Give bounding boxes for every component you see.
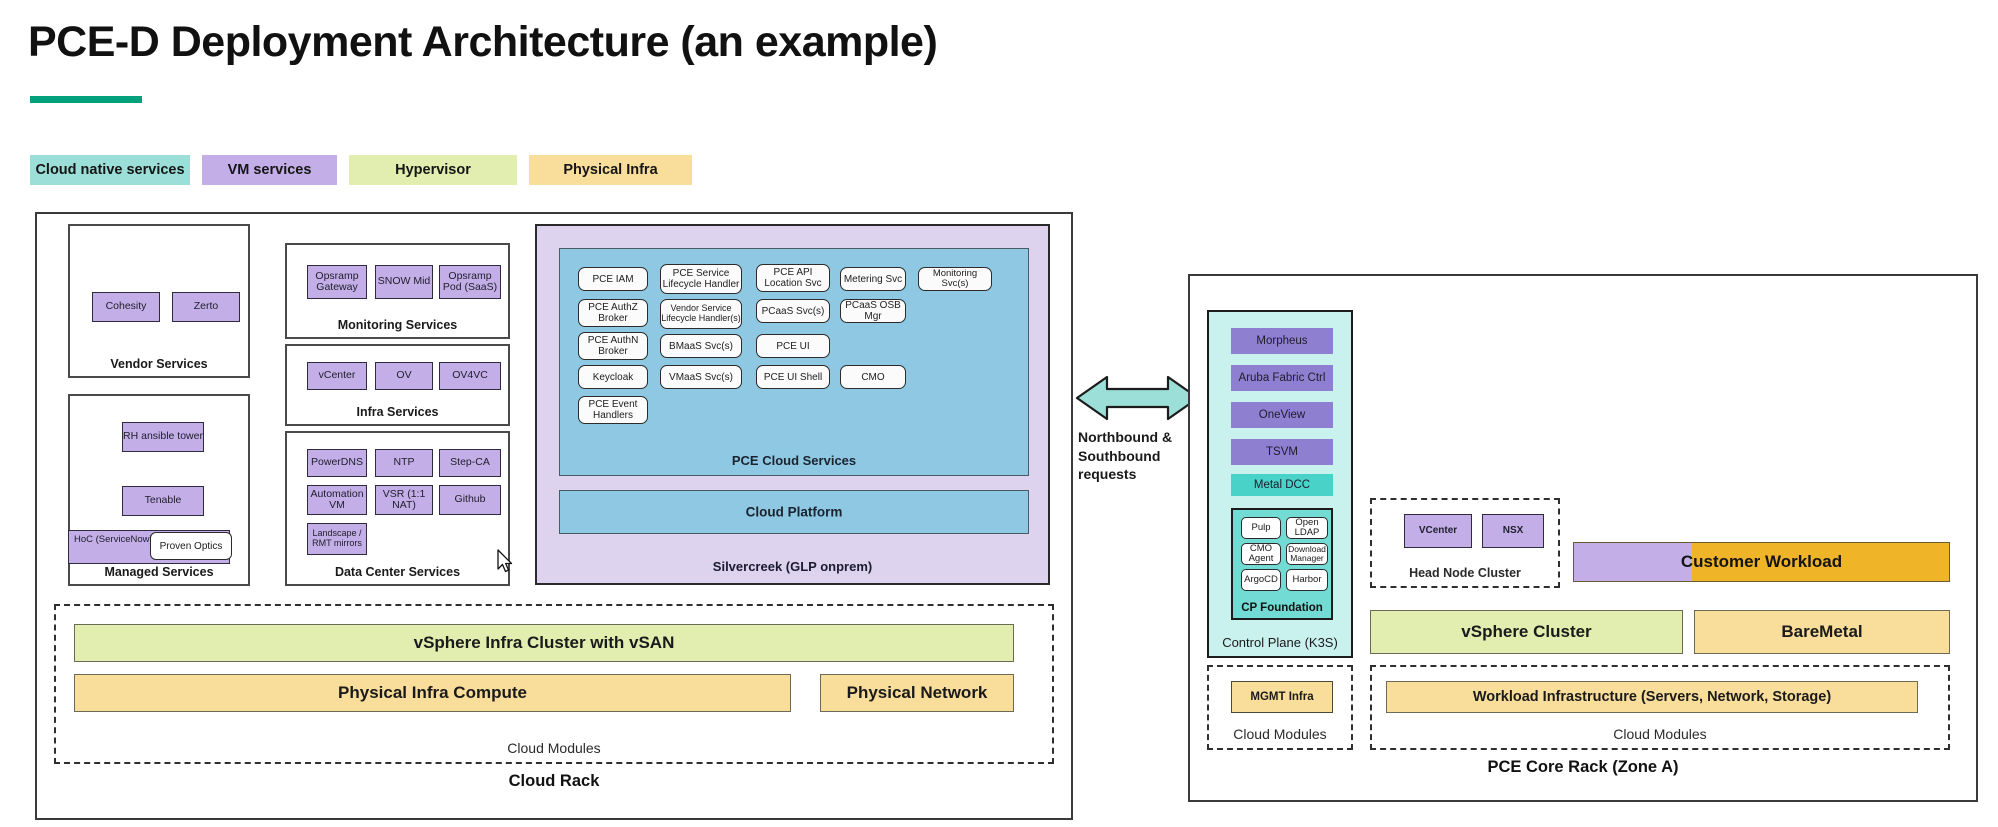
chip-label: Opsramp Pod (SaaS) xyxy=(440,271,500,294)
chip-proven-optics: Proven Optics xyxy=(150,532,232,560)
bar-baremetal: BareMetal xyxy=(1694,610,1950,654)
cp-chip-label: OneView xyxy=(1259,409,1305,421)
cloud-modules-left-label: Cloud Modules xyxy=(56,740,1052,756)
group-label-managed-services: Managed Services xyxy=(70,565,248,579)
bar-label: vSphere Infra Cluster with vSAN xyxy=(414,633,675,653)
chip-label: Step-CA xyxy=(450,457,490,468)
chip-label: Proven Optics xyxy=(160,541,223,552)
cpf-chip-label: Harbor xyxy=(1292,575,1321,585)
bar-vsphere-infra-cluster: vSphere Infra Cluster with vSAN xyxy=(74,624,1014,662)
chip-vcenter-head-node: VCenter xyxy=(1404,514,1472,548)
svc-label: Metering Svc xyxy=(844,274,902,285)
control-plane-k3s: Morpheus Aruba Fabric Ctrl OneView TSVM … xyxy=(1207,310,1353,658)
legend-item-cloud-native: Cloud native services xyxy=(30,155,190,185)
cp-chip-morpheus: Morpheus xyxy=(1231,328,1333,354)
chip-rh-ansible-tower: RH ansible tower xyxy=(122,422,204,452)
cp-chip-tsvm: TSVM xyxy=(1231,439,1333,465)
cpf-chip-cmo-agent: CMO Agent xyxy=(1241,543,1281,565)
diagram-canvas: PCE-D Deployment Architecture (an exampl… xyxy=(0,0,1998,827)
chip-automation-vm: Automation VM xyxy=(307,485,367,515)
control-plane-label: Control Plane (K3S) xyxy=(1209,635,1351,650)
northbound-southbound-arrow-icon xyxy=(1075,372,1200,424)
svc-label: Keycloak xyxy=(593,372,634,383)
svc-label: VMaaS Svc(s) xyxy=(669,372,733,383)
bar-customer-workload: Customer Workload xyxy=(1573,542,1950,582)
cloud-modules-workload-label: Cloud Modules xyxy=(1372,726,1948,742)
cloud-rack-label: Cloud Rack xyxy=(35,772,1073,791)
chip-ov: OV xyxy=(375,362,433,390)
legend-label: Hypervisor xyxy=(395,162,471,178)
cpf-chip-label: Open LDAP xyxy=(1287,518,1327,539)
cp-chip-label: TSVM xyxy=(1266,446,1298,458)
cp-chip-metal-dcc: Metal DCC xyxy=(1231,474,1333,496)
legend-label: VM services xyxy=(228,162,312,178)
bar-label: Workload Infrastructure (Servers, Networ… xyxy=(1473,689,1831,705)
svc-label: BMaaS Svc(s) xyxy=(669,341,733,352)
panel-label-cloud-platform: Cloud Platform xyxy=(560,505,1028,520)
title-accent-rule xyxy=(30,96,142,103)
cloud-modules-left: vSphere Infra Cluster with vSAN Physical… xyxy=(54,604,1054,764)
chip-label: Opsramp Gateway xyxy=(308,271,366,294)
customer-workload-label: Customer Workload xyxy=(1574,552,1949,572)
group-monitoring-services: Opsramp Gateway SNOW Mid Opsramp Pod (Sa… xyxy=(285,243,510,339)
cpf-chip-argocd: ArgoCD xyxy=(1241,569,1281,591)
chip-nsx: NSX xyxy=(1482,514,1544,548)
chip-opsramp-pod-saas: Opsramp Pod (SaaS) xyxy=(439,265,501,299)
panel-label-silvercreek: Silvercreek (GLP onprem) xyxy=(537,559,1048,574)
svc-pce-authn-broker: PCE AuthN Broker xyxy=(578,332,648,360)
chip-ov4vc: OV4VC xyxy=(439,362,501,390)
cp-foundation-label: CP Foundation xyxy=(1233,602,1331,614)
cpf-chip-label: Pulp xyxy=(1251,523,1270,533)
legend-item-hypervisor: Hypervisor xyxy=(349,155,517,185)
svc-label: PCE IAM xyxy=(592,274,633,285)
cp-chip-aruba-fabric-ctrl: Aruba Fabric Ctrl xyxy=(1231,365,1333,391)
bar-label: Physical Network xyxy=(847,683,988,703)
cp-chip-label: Morpheus xyxy=(1256,335,1307,347)
chip-github: Github xyxy=(439,485,501,515)
cpf-chip-harbor: Harbor xyxy=(1286,569,1328,591)
svc-label: PCaaS Svc(s) xyxy=(762,306,825,317)
chip-label: Landscape / RMT mirrors xyxy=(308,529,366,548)
svc-pce-api-location: PCE API Location Svc xyxy=(756,264,830,292)
chip-label: Tenable xyxy=(145,495,182,506)
chip-vcenter: vCenter xyxy=(307,362,367,390)
head-node-cluster-label: Head Node Cluster xyxy=(1372,566,1558,580)
panel-pce-cloud-services: PCE IAM PCE AuthZ Broker PCE AuthN Broke… xyxy=(559,248,1029,476)
cloud-modules-workload: Workload Infrastructure (Servers, Networ… xyxy=(1370,665,1950,750)
cp-chip-label: Metal DCC xyxy=(1254,479,1310,491)
svc-bmaas: BMaaS Svc(s) xyxy=(660,334,742,358)
group-infra-services: vCenter OV OV4VC Infra Services xyxy=(285,344,510,426)
chip-label: VSR (1:1 NAT) xyxy=(376,489,432,512)
legend-label: Physical Infra xyxy=(563,162,657,178)
svc-label: Monitoring Svc(s) xyxy=(919,269,991,290)
group-label-infra-services: Infra Services xyxy=(287,405,508,419)
svc-label: CMO xyxy=(861,372,884,383)
svc-vmaas: VMaaS Svc(s) xyxy=(660,365,742,389)
svc-label: PCE UI xyxy=(776,341,809,352)
bar-label: Physical Infra Compute xyxy=(338,683,527,703)
chip-zerto: Zerto xyxy=(172,292,240,322)
chip-vsr-nat: VSR (1:1 NAT) xyxy=(375,485,433,515)
bar-physical-infra-compute: Physical Infra Compute xyxy=(74,674,791,712)
svc-pcaas-osb-mgr: PCaaS OSB Mgr xyxy=(840,299,906,323)
chip-label: HoC (ServiceNow) xyxy=(74,534,153,545)
svc-metering: Metering Svc xyxy=(840,267,906,291)
chip-step-ca: Step-CA xyxy=(439,449,501,477)
chip-label: NTP xyxy=(394,457,415,468)
chip-landscape-rmt-mirrors: Landscape / RMT mirrors xyxy=(307,523,367,555)
cloud-modules-mgmt: MGMT Infra Cloud Modules xyxy=(1207,665,1353,750)
bar-label: BareMetal xyxy=(1781,622,1862,642)
chip-ntp: NTP xyxy=(375,449,433,477)
cpf-chip-open-ldap: Open LDAP xyxy=(1286,517,1328,539)
svc-keycloak: Keycloak xyxy=(578,365,648,389)
svc-pce-event-handlers: PCE Event Handlers xyxy=(578,396,648,424)
chip-snow-mid: SNOW Mid xyxy=(375,265,433,299)
chip-label: Cohesity xyxy=(106,301,147,312)
chip-label: Automation VM xyxy=(308,489,366,512)
chip-label: Github xyxy=(455,494,486,505)
page-title: PCE-D Deployment Architecture (an exampl… xyxy=(28,18,937,67)
svc-label: PCE UI Shell xyxy=(764,372,822,383)
chip-label: RH ansible tower xyxy=(123,431,203,442)
chip-opsramp-gateway: Opsramp Gateway xyxy=(307,265,367,299)
bar-workload-infrastructure: Workload Infrastructure (Servers, Networ… xyxy=(1386,681,1918,713)
chip-powerdns: PowerDNS xyxy=(307,449,367,477)
svc-cmo: CMO xyxy=(840,365,906,389)
svc-pce-iam: PCE IAM xyxy=(578,267,648,291)
svc-pce-service-lifecycle-handler: PCE Service Lifecycle Handler xyxy=(660,264,742,294)
svc-label: PCE AuthZ Broker xyxy=(579,302,647,324)
legend-item-physical-infra: Physical Infra xyxy=(529,155,692,185)
bar-label: MGMT Infra xyxy=(1250,691,1313,703)
group-managed-services: RH ansible tower Tenable HoC (ServiceNow… xyxy=(68,394,250,586)
chip-label: OV4VC xyxy=(452,370,488,381)
chip-label: Zerto xyxy=(194,301,219,312)
svc-label: PCE AuthN Broker xyxy=(579,335,647,357)
svc-label: PCE Event Handlers xyxy=(579,399,647,421)
cloud-modules-mgmt-label: Cloud Modules xyxy=(1209,726,1351,742)
bar-mgmt-infra: MGMT Infra xyxy=(1231,681,1333,713)
cp-chip-label: Aruba Fabric Ctrl xyxy=(1239,372,1326,384)
group-data-center-services: PowerDNS NTP Step-CA Automation VM VSR (… xyxy=(285,431,510,586)
svc-pce-ui-shell: PCE UI Shell xyxy=(756,365,830,389)
group-label-vendor-services: Vendor Services xyxy=(70,357,248,371)
chip-tenable: Tenable xyxy=(122,486,204,516)
bar-vsphere-cluster: vSphere Cluster xyxy=(1370,610,1683,654)
group-label-monitoring-services: Monitoring Services xyxy=(287,318,508,332)
svc-label: PCE Service Lifecycle Handler xyxy=(661,268,741,290)
cp-chip-oneview: OneView xyxy=(1231,402,1333,428)
pce-core-rack-label: PCE Core Rack (Zone A) xyxy=(1188,758,1978,777)
svc-monitoring: Monitoring Svc(s) xyxy=(918,267,992,291)
panel-label-pce-cloud-services: PCE Cloud Services xyxy=(560,453,1028,468)
cp-foundation: Pulp Open LDAP CMO Agent Download Manage… xyxy=(1231,508,1333,620)
cpf-chip-label: CMO Agent xyxy=(1242,544,1280,565)
svc-label: PCE API Location Svc xyxy=(757,267,829,289)
cpf-chip-label: Download Manager xyxy=(1287,545,1327,563)
svc-pcaas: PCaaS Svc(s) xyxy=(756,299,830,323)
chip-label: VCenter xyxy=(1419,526,1457,537)
svc-label: PCaaS OSB Mgr xyxy=(841,300,905,322)
svc-pce-ui: PCE UI xyxy=(756,334,830,358)
legend: Cloud native services VM services Hyperv… xyxy=(30,155,692,185)
panel-cloud-platform: Cloud Platform xyxy=(559,490,1029,534)
group-label-data-center-services: Data Center Services xyxy=(287,565,508,579)
chip-cohesity: Cohesity xyxy=(92,292,160,322)
panel-silvercreek: PCE IAM PCE AuthZ Broker PCE AuthN Broke… xyxy=(535,224,1050,585)
chip-label: OV xyxy=(396,370,411,381)
cpf-chip-label: ArgoCD xyxy=(1244,575,1278,585)
svc-pce-authz-broker: PCE AuthZ Broker xyxy=(578,299,648,327)
chip-label: PowerDNS xyxy=(311,457,363,468)
legend-label: Cloud native services xyxy=(35,162,184,178)
cpf-chip-pulp: Pulp xyxy=(1241,517,1281,539)
mouse-cursor-icon xyxy=(497,549,515,575)
head-node-cluster: VCenter NSX Head Node Cluster xyxy=(1370,498,1560,588)
legend-item-vm-services: VM services xyxy=(202,155,337,185)
chip-label: SNOW Mid xyxy=(378,276,431,287)
svc-label: Vendor Service Lifecycle Handler(s) xyxy=(661,304,741,324)
group-vendor-services: Cohesity Zerto Vendor Services xyxy=(68,224,250,378)
chip-label: NSX xyxy=(1503,526,1524,537)
bar-label: vSphere Cluster xyxy=(1461,622,1591,642)
chip-label: vCenter xyxy=(319,370,356,381)
cpf-chip-download-manager: Download Manager xyxy=(1286,543,1328,565)
svc-vendor-service-lifecycle-handlers: Vendor Service Lifecycle Handler(s) xyxy=(660,299,742,329)
bar-physical-network: Physical Network xyxy=(820,674,1014,712)
